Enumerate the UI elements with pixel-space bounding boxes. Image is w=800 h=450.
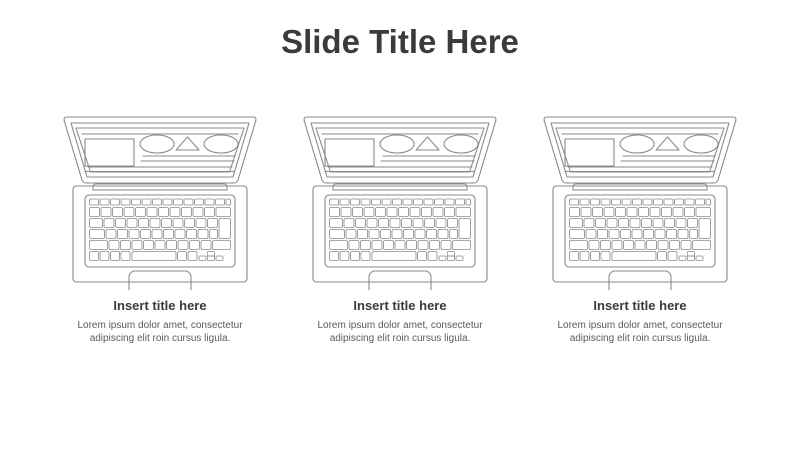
- trackpad: [609, 271, 671, 290]
- column-body: Lorem ipsum dolor amet, consectetur adip…: [54, 319, 266, 345]
- content-column: Insert title here Lorem ipsum dolor amet…: [40, 110, 280, 345]
- column-body: Lorem ipsum dolor amet, consectetur adip…: [534, 319, 746, 345]
- laptop-illustration: [55, 110, 265, 290]
- keyboard-keys: [330, 199, 471, 261]
- keyboard-keys: [90, 199, 231, 261]
- content-column: Insert title here Lorem ipsum dolor amet…: [520, 110, 760, 345]
- laptop-top-view-icon: [295, 110, 505, 290]
- content-columns: Insert title here Lorem ipsum dolor amet…: [0, 110, 800, 360]
- trackpad: [129, 271, 191, 290]
- trackpad: [369, 271, 431, 290]
- column-body: Lorem ipsum dolor amet, consectetur adip…: [294, 319, 506, 345]
- page-title: Slide Title Here: [0, 22, 800, 62]
- laptop-top-view-icon: [535, 110, 745, 290]
- laptop-top-view-icon: [55, 110, 265, 290]
- laptop-illustration: [535, 110, 745, 290]
- column-title: Insert title here: [593, 298, 686, 314]
- column-title: Insert title here: [353, 298, 446, 314]
- content-column: Insert title here Lorem ipsum dolor amet…: [280, 110, 520, 345]
- keyboard-keys: [570, 199, 711, 261]
- laptop-illustration: [295, 110, 505, 290]
- column-title: Insert title here: [113, 298, 206, 314]
- slide-canvas: Slide Title Here: [0, 0, 800, 450]
